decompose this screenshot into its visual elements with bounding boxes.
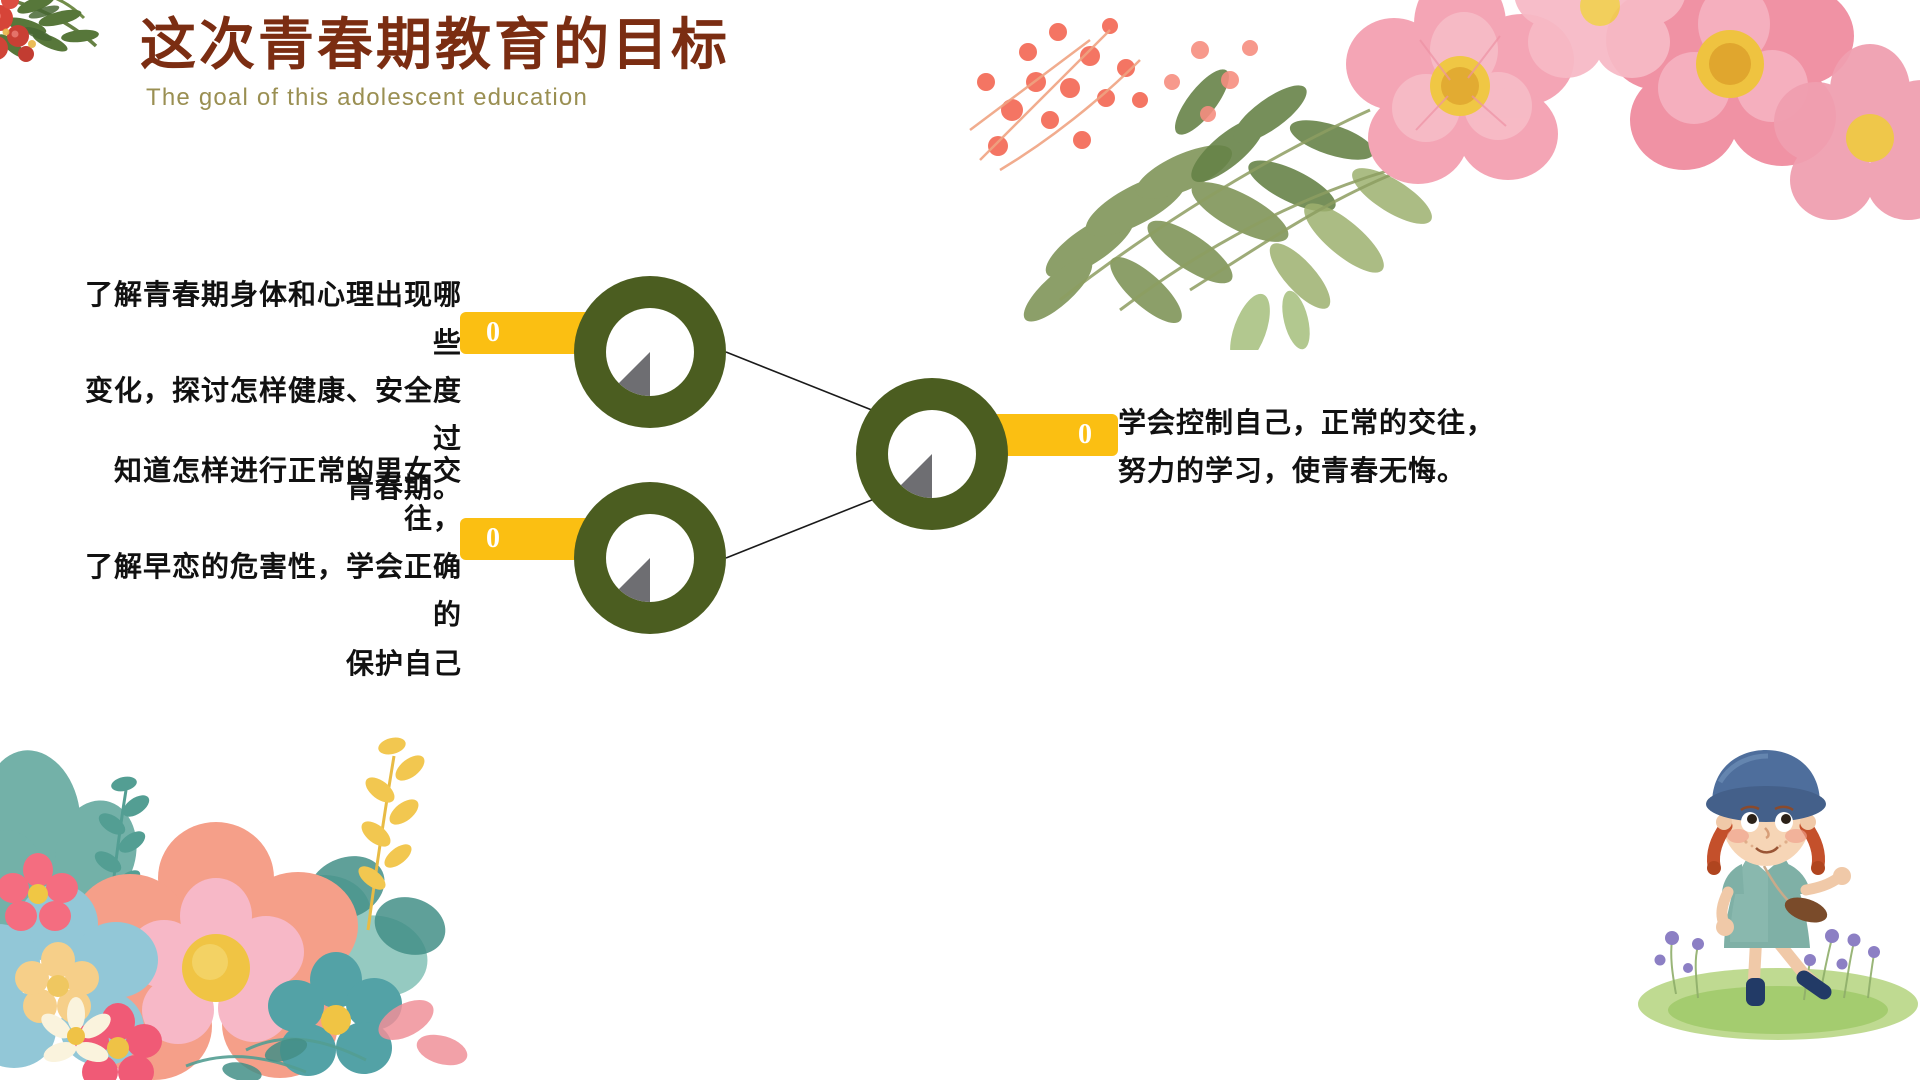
ring-wedge-shadow-3 <box>888 410 976 498</box>
diagram-connectors <box>0 0 1920 1080</box>
diagram-ring-3[interactable] <box>856 378 1008 530</box>
slide-root: 这次青春期教育的目标 The goal of this adolescent e… <box>0 0 1920 1080</box>
diagram-ring-2[interactable] <box>574 482 726 634</box>
ring-wedge-shadow-2 <box>606 514 694 602</box>
ring-wedge-shadow-1 <box>606 308 694 396</box>
diagram-ring-1[interactable] <box>574 276 726 428</box>
